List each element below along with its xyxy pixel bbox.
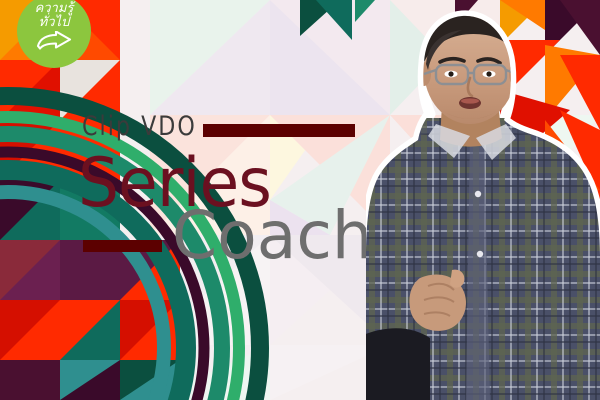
- video-thumbnail: Clip VDO Series Coach ความรู้ ทั่วไป: [0, 0, 600, 400]
- accent-bar-top: [203, 124, 355, 137]
- eyebrow-text: Clip VDO: [82, 113, 197, 140]
- badge-line-2: ทั่วไป: [39, 15, 70, 30]
- trousers: [366, 328, 430, 400]
- badge-line-1: ความรู้: [35, 1, 74, 16]
- person-photo: [366, 8, 600, 400]
- title-sub: Coach: [172, 203, 373, 269]
- accent-bar-bottom: [83, 240, 162, 252]
- arrow-right-icon: [34, 31, 74, 51]
